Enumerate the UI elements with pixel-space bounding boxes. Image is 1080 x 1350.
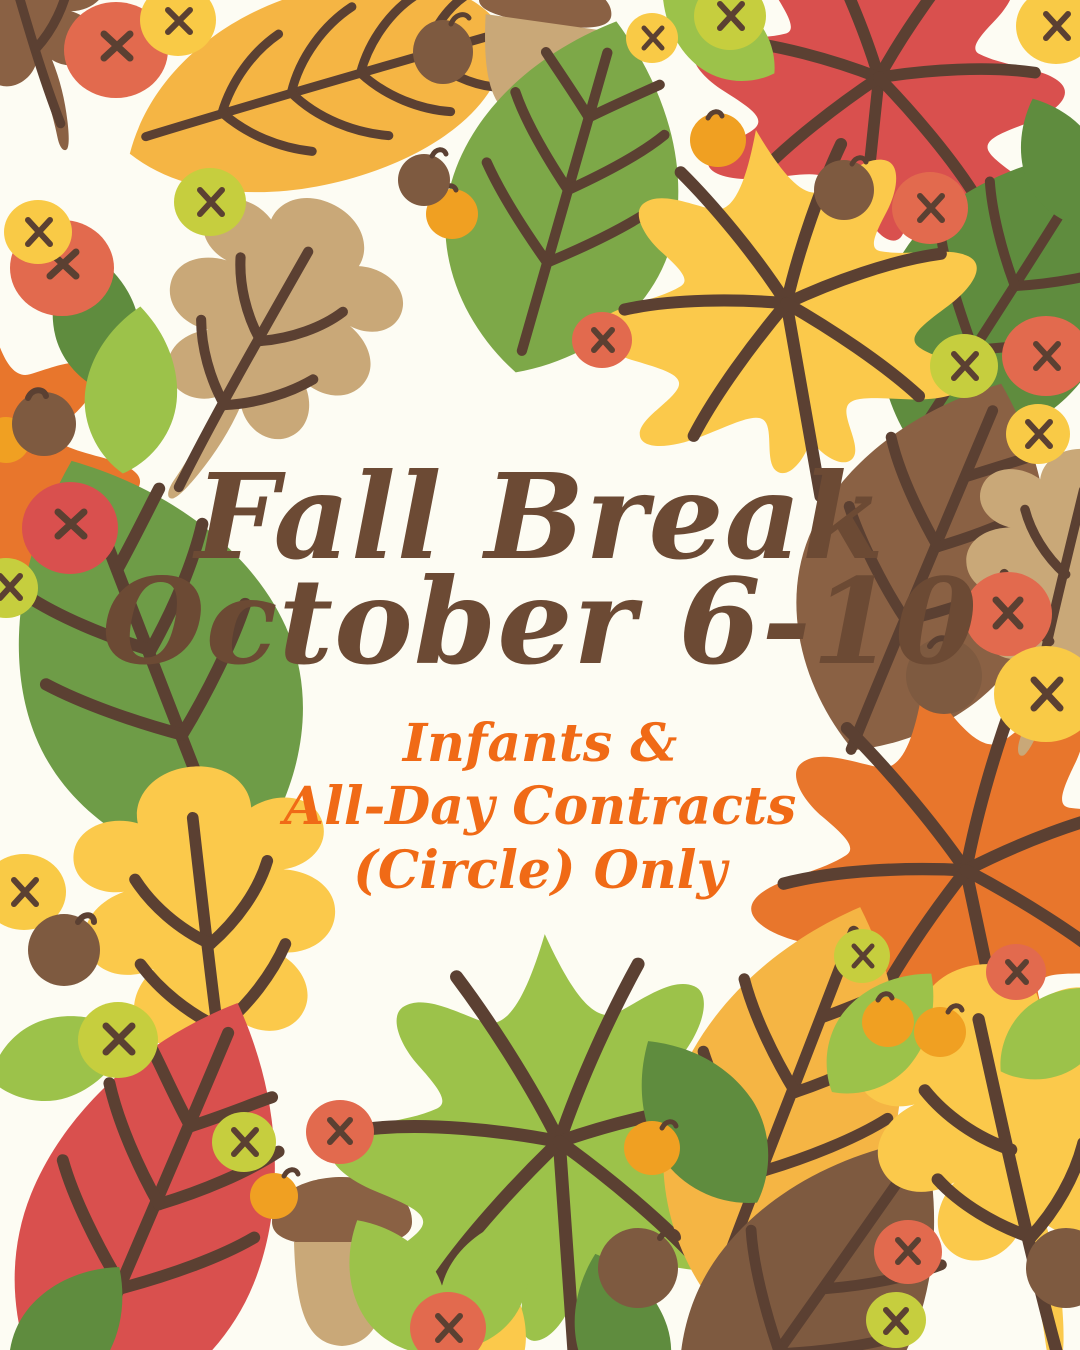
autumn-foliage-background: [0, 0, 1080, 1350]
fall-break-poster: Fall Break October 6-10 Infants & All-Da…: [0, 0, 1080, 1350]
